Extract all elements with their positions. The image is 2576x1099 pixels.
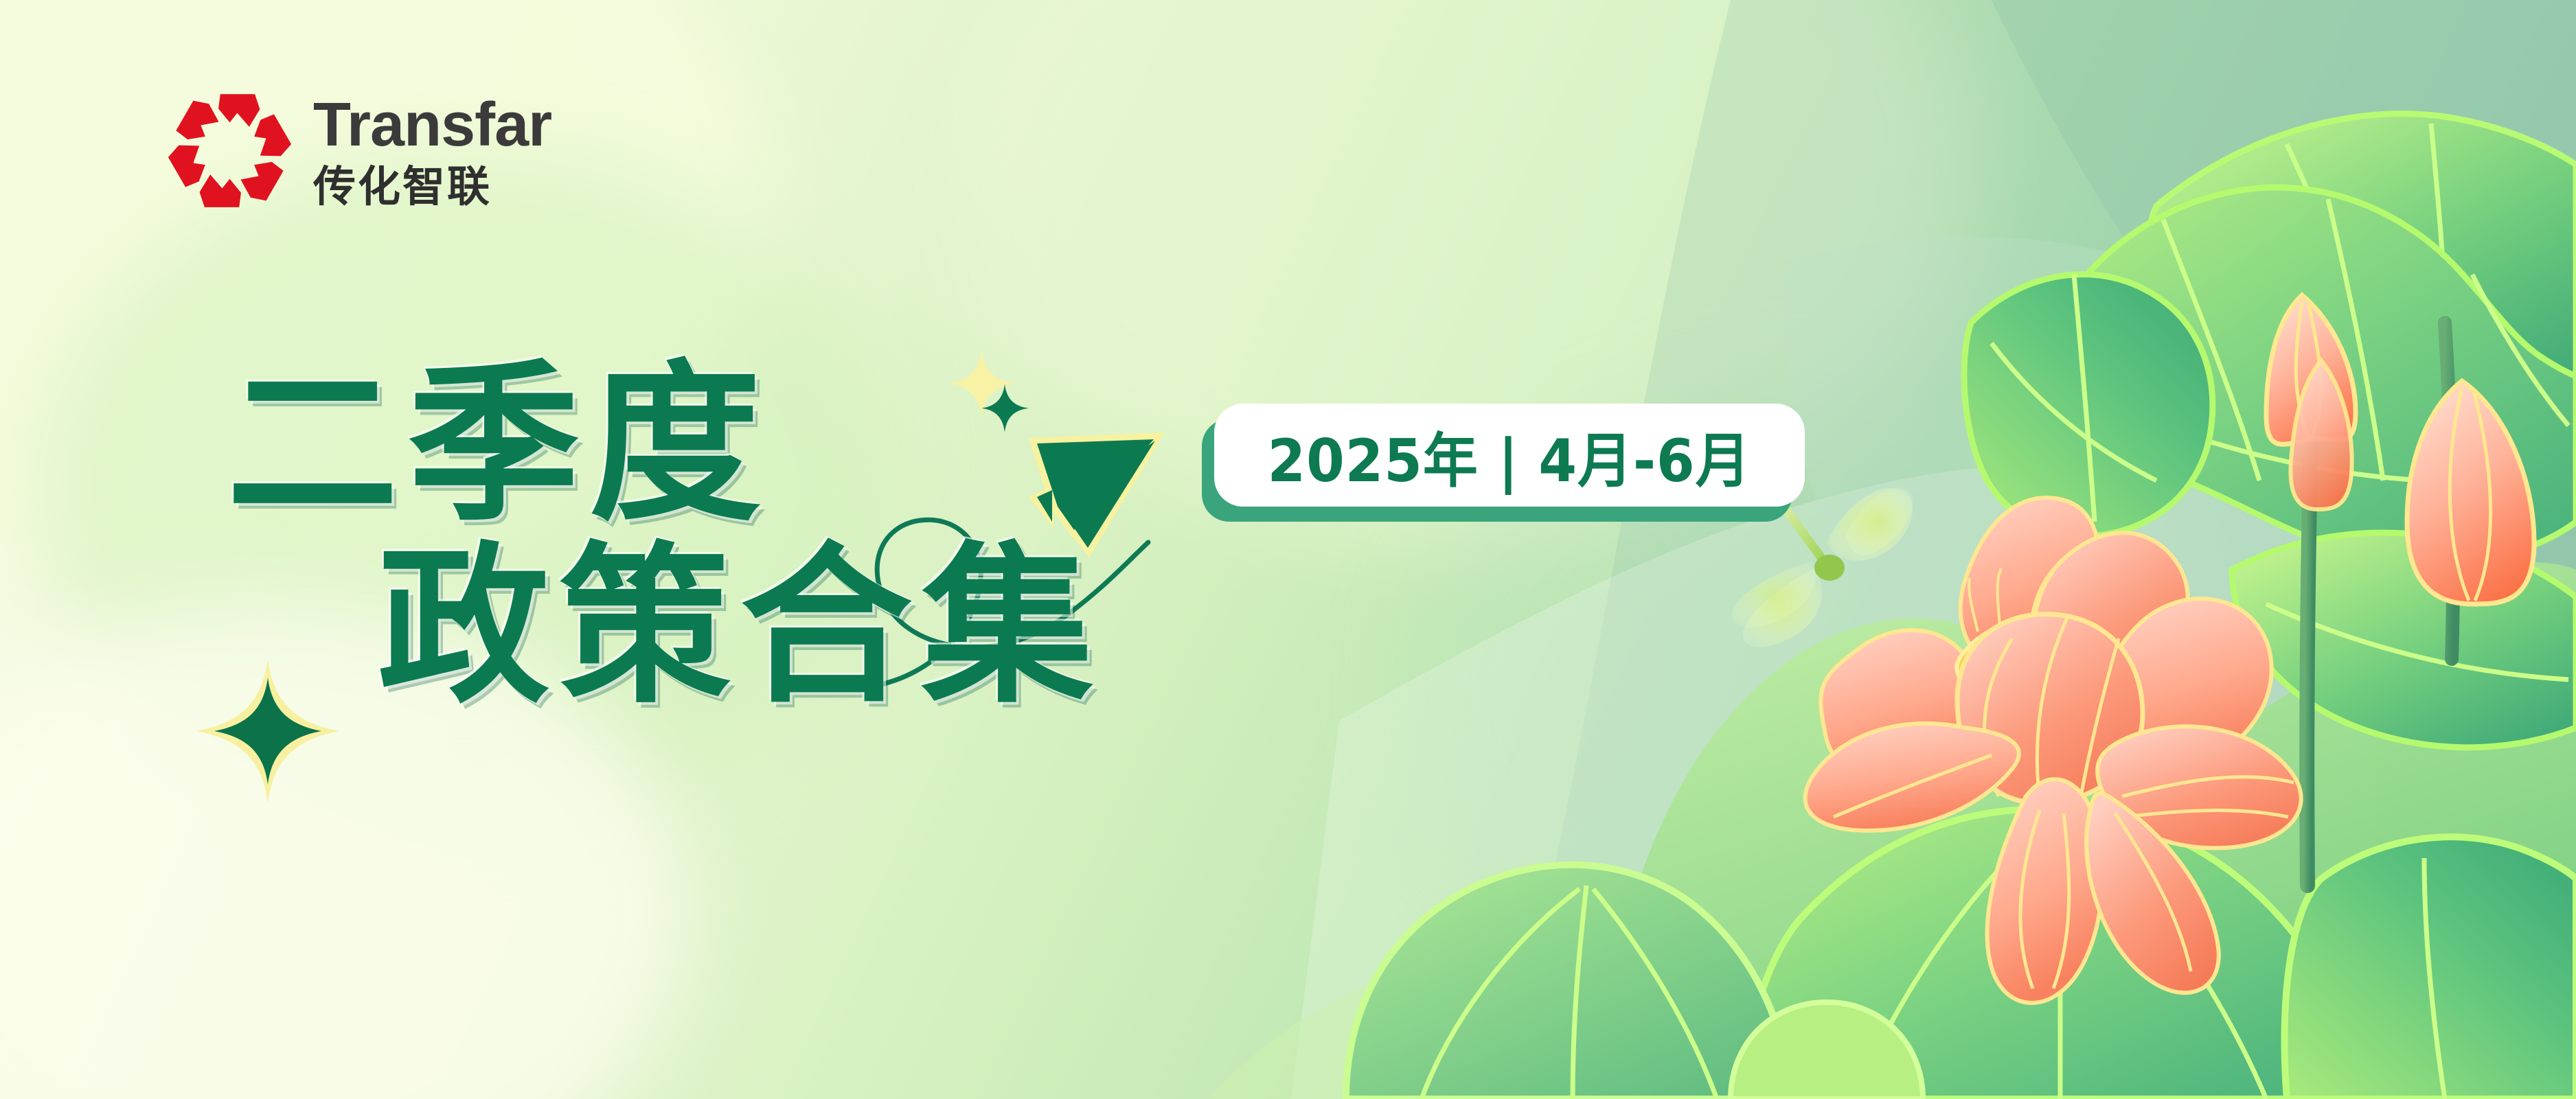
brand-logo[interactable]: Transfar 传化智联 xyxy=(167,88,551,213)
date-badge-body: 2025年 | 4月-6月 xyxy=(1214,404,1805,507)
brand-name-cn: 传化智联 xyxy=(313,165,551,208)
quarterly-policy-banner: Transfar 传化智联 二季度 政策合集 2025年 | 4月-6月 xyxy=(0,0,2576,1099)
date-range-badge: 2025年 | 4月-6月 xyxy=(1214,404,1805,507)
transfar-pinwheel-logo-icon xyxy=(167,88,293,213)
paper-plane-icon xyxy=(1029,432,1165,557)
dragonfly-body xyxy=(1814,555,1845,581)
sparkle-icon xyxy=(949,349,1029,432)
plane-trail-line xyxy=(810,520,1148,689)
lotus-leaf xyxy=(1964,275,2213,536)
date-badge-label: 2025年 | 4月-6月 xyxy=(1268,413,1751,498)
brand-name-block: Transfar 传化智联 xyxy=(313,94,551,208)
sparkle-icon xyxy=(196,659,339,803)
brand-name-en: Transfar xyxy=(313,94,551,156)
